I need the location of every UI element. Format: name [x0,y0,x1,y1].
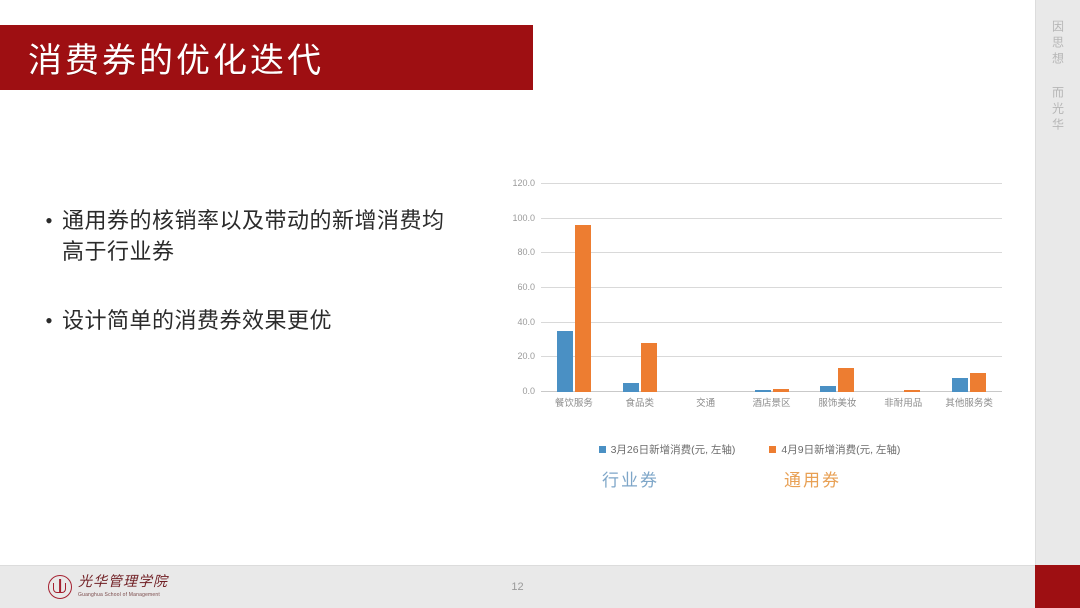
chart-plot-area: 0.020.040.060.080.0100.0120.0 [541,184,1002,392]
bullet-dot-icon: • [36,205,62,236]
x-axis-tick-label: 酒店景区 [739,394,805,414]
y-axis-tick-label: 20.0 [517,351,535,361]
bar-group [541,184,607,392]
legend-swatch-icon [769,446,776,453]
legend-label: 3月26日新增消费(元, 左轴) [611,442,736,457]
bar [557,331,573,392]
bar-group [870,184,936,392]
page-title: 消费券的优化迭代 [28,33,324,82]
bar [641,343,657,392]
footer-bar: 光华管理学院 Guanghua School of Management 12 [0,565,1035,608]
x-axis-tick-label: 食品类 [607,394,673,414]
bullet-text: 设计简单的消费券效果更优 [62,305,466,336]
bullet-text: 通用券的核销率以及带动的新增消费均高于行业券 [62,205,466,267]
chart-bars [541,184,1002,392]
annotation-industry-voucher: 行业券 [602,466,659,491]
y-axis-tick-label: 120.0 [512,178,535,188]
bar [970,373,986,392]
bar-group [673,184,739,392]
y-axis-tick-label: 100.0 [512,213,535,223]
bar-group [936,184,1002,392]
bar-chart: 0.020.040.060.080.0100.0120.0 餐饮服务食品类交通酒… [497,176,1002,414]
legend-label: 4月9日新增消费(元, 左轴) [781,442,900,457]
y-axis-tick-label: 60.0 [517,282,535,292]
bar-group [804,184,870,392]
title-banner: 消费券的优化迭代 [0,25,533,90]
bar-group [739,184,805,392]
bar [623,383,639,392]
bullet-list: • 通用券的核销率以及带动的新增消费均高于行业券 • 设计简单的消费券效果更优 [36,205,466,374]
x-axis-tick-label: 交通 [673,394,739,414]
bar [773,389,789,392]
legend-item[interactable]: 3月26日新增消费(元, 左轴) [599,442,736,457]
bar [575,225,591,392]
bullet-dot-icon: • [36,305,62,336]
logo-text-en: Guanghua School of Management [78,593,168,598]
right-sidebar: 因思想 而光华 [1035,0,1080,565]
legend-item[interactable]: 4月9日新增消费(元, 左轴) [769,442,900,457]
y-axis-tick-label: 40.0 [517,317,535,327]
x-axis-tick-label: 其他服务类 [936,394,1002,414]
list-item: • 通用券的核销率以及带动的新增消费均高于行业券 [36,205,466,267]
legend-swatch-icon [599,446,606,453]
bar [904,390,920,392]
bar [820,386,836,392]
bar [838,368,854,392]
bar [952,378,968,392]
sidebar-slogan: 因思想 而光华 [1050,20,1067,134]
list-item: • 设计简单的消费券效果更优 [36,305,466,336]
page-number: 12 [0,581,1035,593]
x-axis-tick-label: 非耐用品 [870,394,936,414]
annotation-general-voucher: 通用券 [784,466,841,491]
chart-legend: 3月26日新增消费(元, 左轴)4月9日新增消费(元, 左轴) [497,442,1002,457]
bar [755,390,771,392]
y-axis-tick-label: 0.0 [522,386,535,396]
x-axis-tick-label: 餐饮服务 [541,394,607,414]
sidebar-bottom-accent [1035,565,1080,608]
chart-x-axis-labels: 餐饮服务食品类交通酒店景区服饰美妆非耐用品其他服务类 [541,394,1002,414]
y-axis-tick-label: 80.0 [517,247,535,257]
x-axis-tick-label: 服饰美妆 [804,394,870,414]
slide: 消费券的优化迭代 • 通用券的核销率以及带动的新增消费均高于行业券 • 设计简单… [0,0,1080,608]
bar-group [607,184,673,392]
